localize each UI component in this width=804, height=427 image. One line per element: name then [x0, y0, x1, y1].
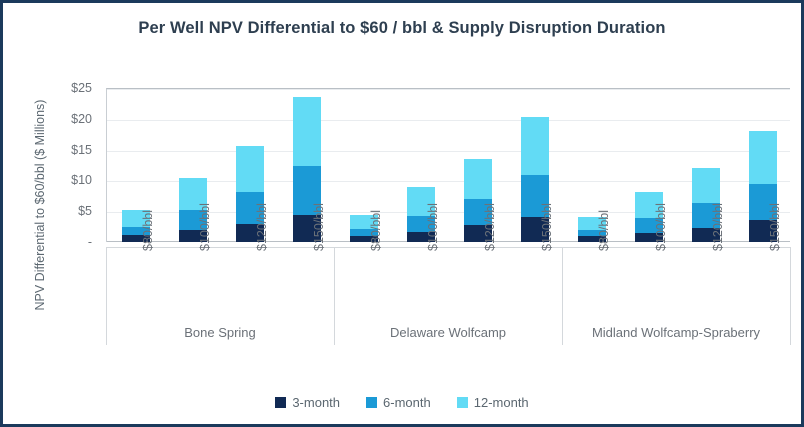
bar-segment-12-month[interactable] — [293, 97, 321, 166]
x-axis-group-label: Bone Spring — [106, 325, 334, 340]
x-axis-tick-label: $80/bbl — [141, 210, 155, 251]
x-axis-group-label: Midland Wolfcamp-Spraberry — [562, 325, 790, 340]
legend-swatch-icon — [457, 397, 468, 408]
x-axis-tick-label: $120/bbl — [711, 203, 725, 251]
legend-item[interactable]: 12-month — [457, 395, 529, 410]
gridline — [107, 151, 790, 152]
x-axis-tick-label: $100/bbl — [654, 203, 668, 251]
bar-segment-12-month[interactable] — [464, 159, 492, 199]
group-separator — [106, 247, 107, 345]
y-axis-tick-label: $25 — [32, 81, 92, 95]
legend-label: 3-month — [292, 395, 340, 410]
x-axis-tick-label: $80/bbl — [369, 210, 383, 251]
x-axis-tick-label: $150/bbl — [768, 203, 782, 251]
legend-item[interactable]: 6-month — [366, 395, 431, 410]
chart-frame: Per Well NPV Differential to $60 / bbl &… — [0, 0, 804, 427]
legend-item[interactable]: 3-month — [275, 395, 340, 410]
x-axis-tick-label: $80/bbl — [597, 210, 611, 251]
x-axis-tick-label: $150/bbl — [312, 203, 326, 251]
legend-label: 6-month — [383, 395, 431, 410]
group-separator — [790, 247, 791, 345]
x-axis-tick-label: $100/bbl — [198, 203, 212, 251]
legend-label: 12-month — [474, 395, 529, 410]
gridline — [107, 89, 790, 90]
x-axis-group-label: Delaware Wolfcamp — [334, 325, 562, 340]
y-axis-tick-label: $10 — [32, 173, 92, 187]
bar-segment-12-month[interactable] — [692, 168, 720, 204]
bar-segment-12-month[interactable] — [236, 146, 264, 192]
y-axis-tick-label: $20 — [32, 112, 92, 126]
gridline — [107, 120, 790, 121]
x-axis-tick-label: $150/bbl — [540, 203, 554, 251]
y-axis-tick-label: - — [32, 235, 92, 249]
gridline — [107, 181, 790, 182]
y-axis-tick-label: $5 — [32, 204, 92, 218]
group-separator — [334, 247, 335, 345]
y-axis-tick-label: $15 — [32, 143, 92, 157]
x-axis-tick-label: $120/bbl — [255, 203, 269, 251]
bar-segment-12-month[interactable] — [521, 117, 549, 176]
group-separator — [562, 247, 563, 345]
chart-title: Per Well NPV Differential to $60 / bbl &… — [3, 19, 801, 38]
bar-segment-12-month[interactable] — [749, 131, 777, 184]
x-axis-tick-label: $120/bbl — [483, 203, 497, 251]
x-axis-tick-label: $100/bbl — [426, 203, 440, 251]
legend-swatch-icon — [366, 397, 377, 408]
chart-legend: 3-month6-month12-month — [3, 395, 801, 410]
legend-swatch-icon — [275, 397, 286, 408]
